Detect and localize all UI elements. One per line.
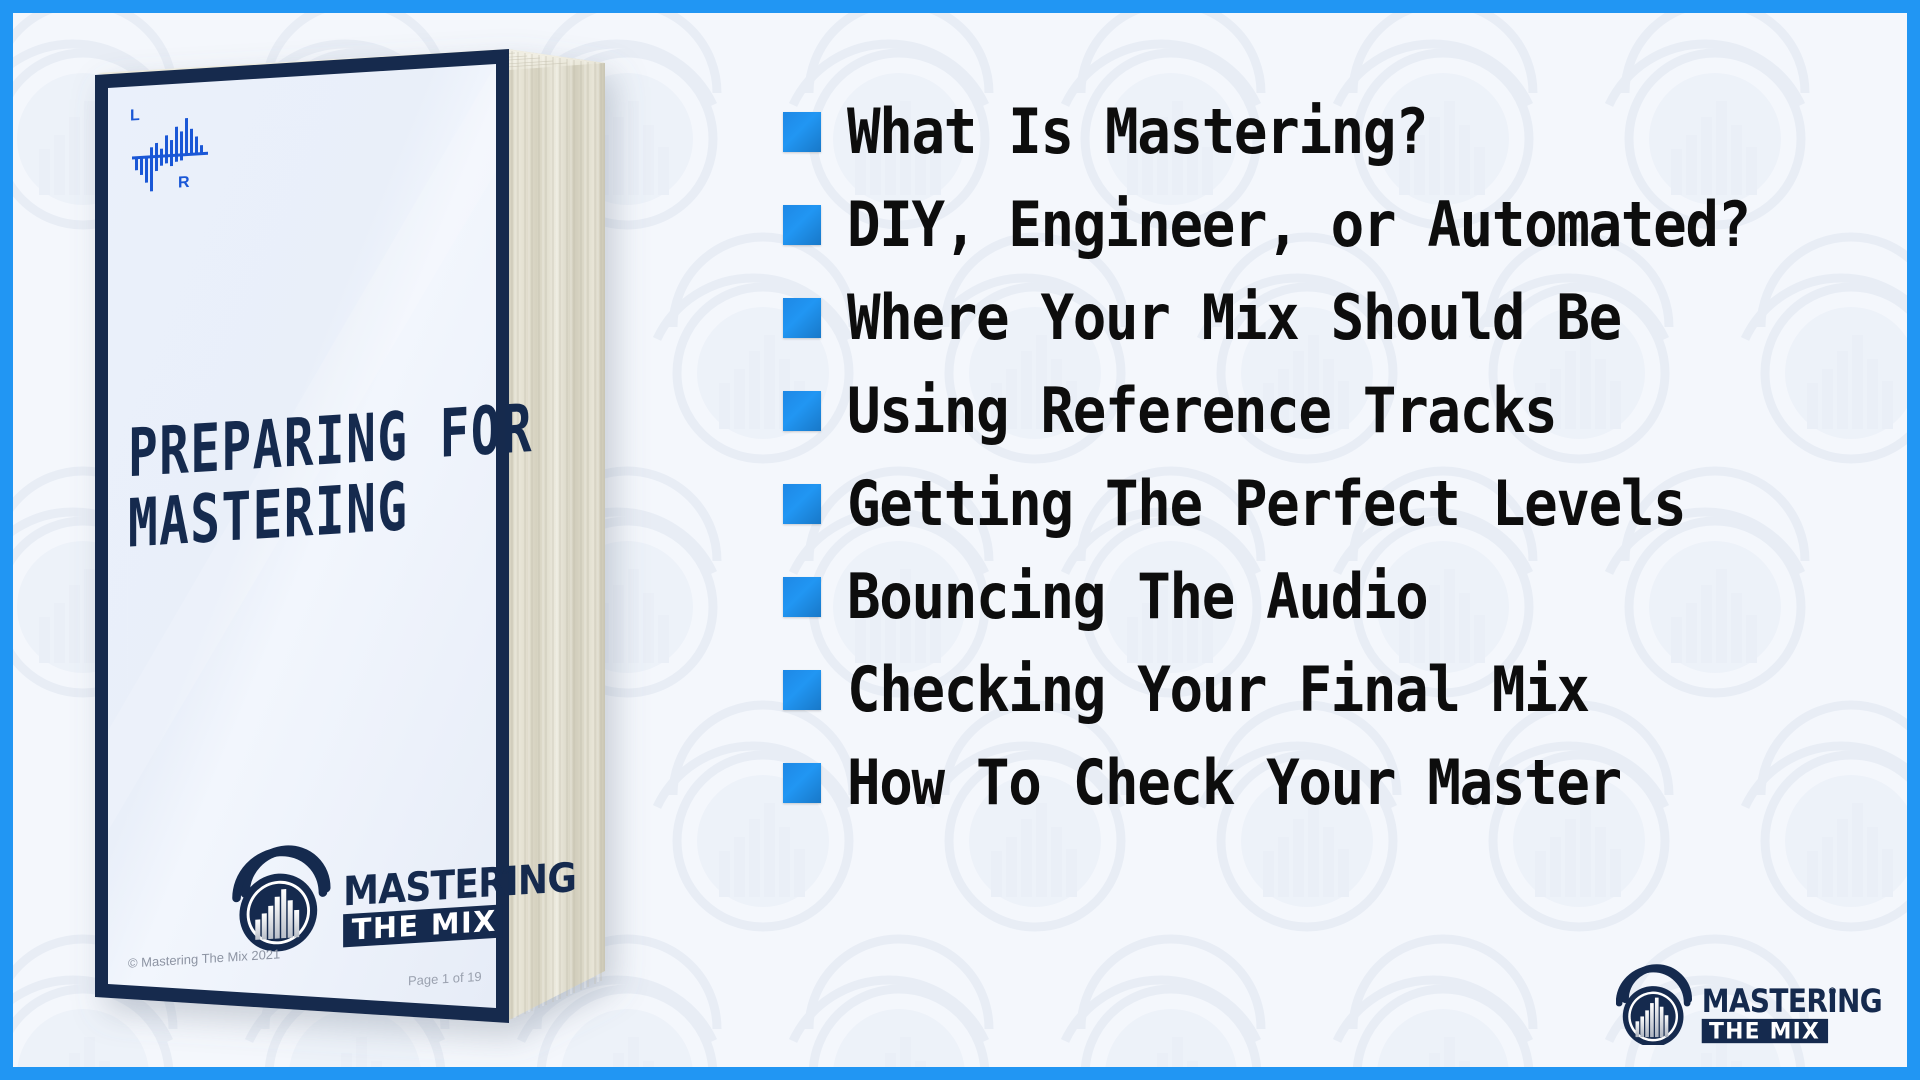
corner-logo-name-bottom: THE MIX: [1709, 1019, 1820, 1044]
corner-logo-registered: ®: [1827, 987, 1837, 998]
list-item[interactable]: Bouncing The Audio: [783, 550, 1893, 643]
list-item-label: Getting The Perfect Levels: [847, 473, 1685, 535]
list-item[interactable]: Checking Your Final Mix: [783, 643, 1893, 736]
bullet-square-icon: [783, 670, 821, 710]
cover-logo-registered: ®: [499, 863, 512, 879]
bullet-square-icon: [783, 391, 821, 431]
svg-text:R: R: [178, 174, 190, 192]
bullet-square-icon: [783, 577, 821, 617]
watermark-headphone-icon: [1293, 879, 1593, 1067]
list-item-label: Using Reference Tracks: [847, 380, 1556, 442]
list-item-label: How To Check Your Master: [847, 752, 1621, 814]
ebook-3d-mockup: L: [75, 31, 655, 1041]
bullet-square-icon: [783, 298, 821, 338]
bullet-square-icon: [783, 112, 821, 152]
svg-text:L: L: [130, 107, 140, 125]
list-item[interactable]: Using Reference Tracks: [783, 364, 1893, 457]
list-item[interactable]: Getting The Perfect Levels: [783, 457, 1893, 550]
list-item[interactable]: How To Check Your Master: [783, 736, 1893, 829]
list-item-label: DIY, Engineer, or Automated?: [847, 194, 1750, 256]
corner-brand-logo: MASTERING ® THE MIX: [1616, 963, 1881, 1045]
list-item-label: What Is Mastering?: [847, 101, 1427, 163]
watermark-headphone-icon: [1021, 879, 1321, 1067]
list-item[interactable]: DIY, Engineer, or Automated?: [783, 178, 1893, 271]
bullet-square-icon: [783, 484, 821, 524]
list-item-label: Where Your Mix Should Be: [847, 287, 1621, 349]
poster-canvas: L: [0, 0, 1920, 1080]
bullet-square-icon: [783, 763, 821, 803]
corner-logo-name-top: MASTERING: [1702, 983, 1881, 1020]
list-item[interactable]: Where Your Mix Should Be: [783, 271, 1893, 364]
watermark-headphone-icon: [749, 879, 1049, 1067]
chapter-list: What Is Mastering?DIY, Engineer, or Auto…: [783, 85, 1893, 829]
headphone-icon: [1619, 968, 1688, 1045]
list-item-label: Checking Your Final Mix: [847, 659, 1589, 721]
list-item-label: Bouncing The Audio: [847, 566, 1427, 628]
bullet-square-icon: [783, 205, 821, 245]
list-item[interactable]: What Is Mastering?: [783, 85, 1893, 178]
